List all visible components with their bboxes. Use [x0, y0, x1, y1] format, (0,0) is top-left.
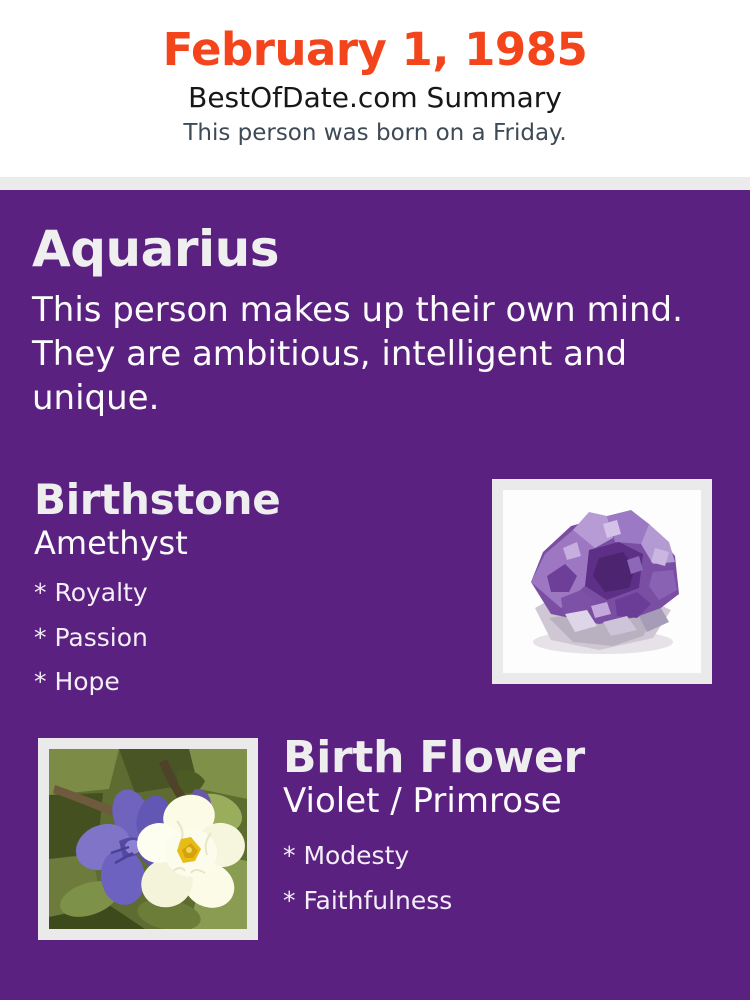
site-name-subtitle: BestOfDate.com Summary [0, 82, 750, 114]
list-item: * Modesty [283, 833, 723, 878]
birthflower-image-frame [38, 738, 258, 940]
birthflower-trait-list: * Modesty * Faithfulness [283, 833, 723, 923]
birthstone-image-frame [492, 479, 712, 684]
birthstone-trait-list: * Royalty * Passion * Hope [34, 571, 464, 705]
header: February 1, 1985 BestOfDate.com Summary … [0, 0, 750, 177]
birthflower-heading: Birth Flower [283, 735, 723, 781]
zodiac-description: This person makes up their own mind. The… [32, 288, 692, 421]
violet-and-primrose-flower-icon [49, 749, 247, 929]
amethyst-photo [503, 490, 701, 673]
born-weekday-text: This person was born on a Friday. [0, 120, 750, 146]
list-item: * Faithfulness [283, 878, 723, 923]
violet-primrose-photo [49, 749, 247, 929]
birthstone-name: Amethyst [34, 526, 464, 561]
birthflower-section: Birth Flower Violet / Primrose * Modesty… [283, 735, 723, 923]
list-item: * Royalty [34, 571, 464, 616]
page-title-date: February 1, 1985 [0, 26, 750, 75]
summary-card: February 1, 1985 BestOfDate.com Summary … [0, 0, 750, 1000]
header-divider [0, 177, 750, 190]
list-item: * Passion [34, 616, 464, 661]
birthstone-section: Birthstone Amethyst * Royalty * Passion … [34, 478, 464, 705]
birthstone-heading: Birthstone [34, 478, 464, 522]
zodiac-section: Aquarius This person makes up their own … [32, 223, 692, 420]
amethyst-crystal-icon [503, 490, 701, 673]
list-item: * Hope [34, 660, 464, 705]
birthflower-name: Violet / Primrose [283, 783, 723, 820]
zodiac-sign-heading: Aquarius [32, 223, 692, 276]
